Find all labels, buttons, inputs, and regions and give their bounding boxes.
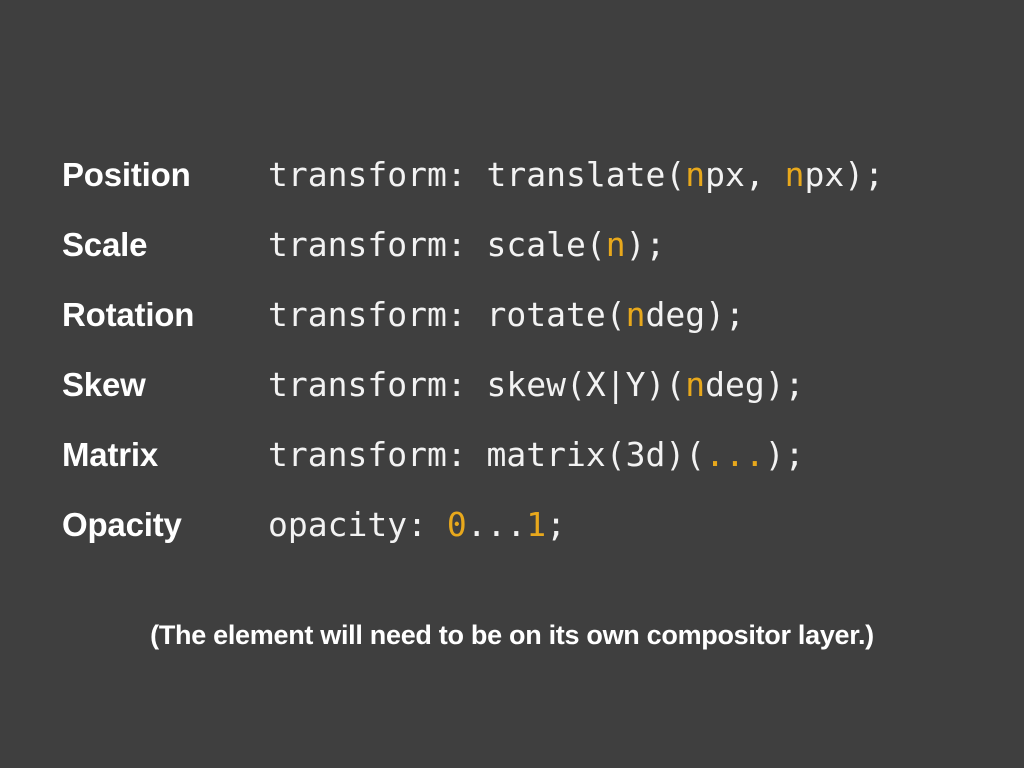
code-token-literal: deg); [705,365,804,404]
property-label: Matrix [62,420,268,490]
footnote-text: (The element will need to be on its own … [0,620,1024,651]
property-code: opacity: 0...1; [268,490,982,560]
property-label: Rotation [62,280,268,350]
code-token-literal: transform: scale( [268,225,606,264]
code-token-literal: transform: rotate( [268,295,626,334]
code-token-literal: ; [546,505,566,544]
property-code: transform: scale(n); [268,210,982,280]
code-token-literal: transform: skew(X|Y)( [268,365,685,404]
property-label: Scale [62,210,268,280]
property-code: transform: rotate(ndeg); [268,280,982,350]
code-token-variable: n [685,155,705,194]
code-token-variable: 0 [447,505,467,544]
code-token-literal: transform: matrix(3d)( [268,435,705,474]
property-code: transform: matrix(3d)(...); [268,420,982,490]
code-token-variable: n [785,155,805,194]
property-label: Skew [62,350,268,420]
property-row: Matrixtransform: matrix(3d)(...); [62,420,982,490]
code-token-variable: n [606,225,626,264]
property-row: Positiontransform: translate(npx, npx); [62,140,982,210]
code-token-variable: n [626,295,646,334]
slide-canvas: Positiontransform: translate(npx, npx);S… [0,0,1024,768]
property-row: Scaletransform: scale(n); [62,210,982,280]
code-token-literal: transform: translate( [268,155,685,194]
property-label: Opacity [62,490,268,560]
property-row: Opacityopacity: 0...1; [62,490,982,560]
code-token-literal: px); [804,155,883,194]
property-list: Positiontransform: translate(npx, npx);S… [62,140,982,560]
code-token-literal: ); [626,225,666,264]
code-token-literal: ); [765,435,805,474]
property-label: Position [62,140,268,210]
code-token-variable: 1 [526,505,546,544]
code-token-variable: n [685,365,705,404]
code-token-literal: ... [467,505,527,544]
code-token-literal: opacity: [268,505,447,544]
code-token-literal: px, [705,155,784,194]
property-code: transform: translate(npx, npx); [268,140,982,210]
property-row: Skewtransform: skew(X|Y)(ndeg); [62,350,982,420]
property-code: transform: skew(X|Y)(ndeg); [268,350,982,420]
property-row: Rotationtransform: rotate(ndeg); [62,280,982,350]
code-token-variable: ... [705,435,765,474]
code-token-literal: deg); [646,295,745,334]
